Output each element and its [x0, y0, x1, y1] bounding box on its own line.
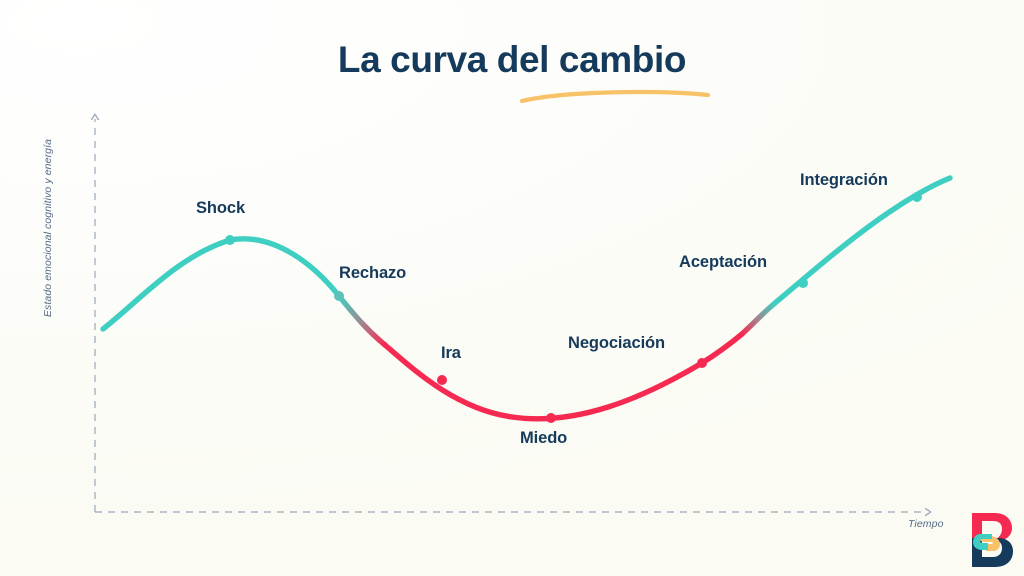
- y-axis-label: Estado emocional cognitivo y energía: [42, 118, 54, 338]
- change-curve-chart: [0, 0, 1024, 576]
- point-marker-shock: [225, 235, 235, 245]
- stage-label-miedo: Miedo: [520, 429, 567, 448]
- x-axis-label: Tiempo: [908, 518, 944, 530]
- stage-label-aceptacion: Aceptación: [679, 253, 767, 272]
- stage-label-rechazo: Rechazo: [339, 264, 406, 283]
- stage-label-integracion: Integración: [800, 171, 888, 190]
- point-marker-ira: [437, 375, 447, 385]
- curve-segment-transition-up: [742, 303, 775, 334]
- curve-segment-transition-down: [339, 296, 385, 345]
- curve-segment-peak-teal: [230, 239, 339, 296]
- stage-label-ira: Ira: [441, 344, 461, 363]
- slide-canvas: La curva del cambio: [0, 0, 1024, 576]
- point-marker-miedo: [546, 413, 556, 423]
- stage-label-negociacion: Negociación: [568, 334, 665, 353]
- curve-segment-rise-teal: [103, 240, 230, 329]
- point-marker-aceptacion: [798, 278, 808, 288]
- b-logo: [968, 510, 1016, 570]
- point-marker-integracion: [912, 192, 922, 202]
- point-marker-negociacion: [697, 358, 707, 368]
- point-marker-rechazo: [334, 291, 344, 301]
- stage-label-shock: Shock: [196, 199, 245, 218]
